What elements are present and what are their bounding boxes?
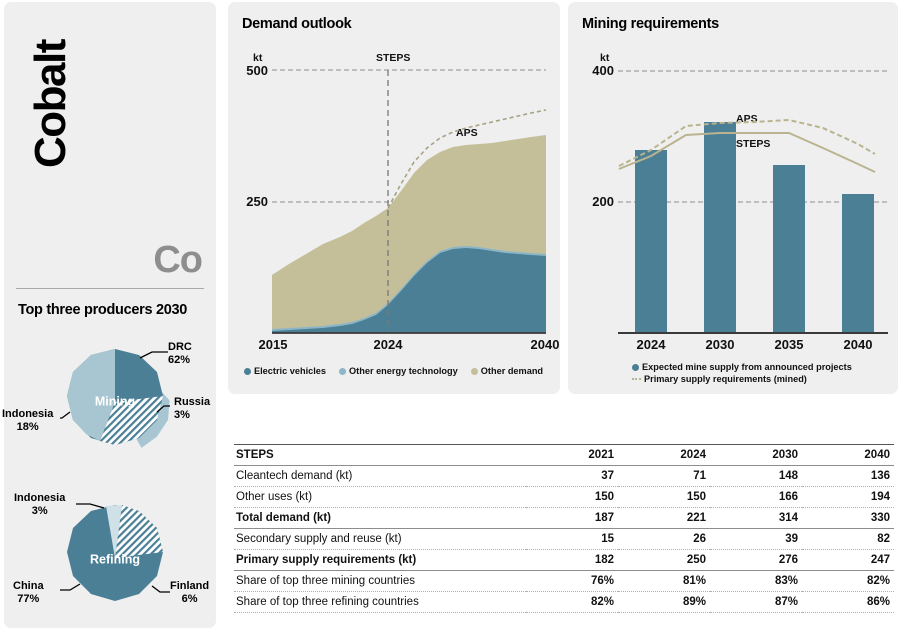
- legend-item-primary-supply-requirements: Primary supply requirements (mined): [632, 374, 852, 384]
- row-value-2024: 26: [618, 529, 710, 550]
- page-title: Cobalt: [26, 0, 76, 168]
- legend-item-other-demand: Other demand: [471, 366, 543, 376]
- table-row: Total demand (kt) 187 221 314 330: [234, 508, 894, 529]
- table-row: Primary supply requirements (kt) 182 250…: [234, 550, 894, 571]
- legend-label-other-energy-technology: Other energy technology: [349, 366, 458, 376]
- pie-label-russia-value: 3%: [174, 409, 190, 421]
- row-value-2021: 187: [526, 508, 618, 529]
- mining-xtick-2024: 2024: [628, 337, 674, 352]
- row-value-2030: 83%: [710, 571, 802, 592]
- table-header-row: STEPS 2021 2024 2030 2040: [234, 445, 894, 466]
- table-row: Share of top three refining countries 82…: [234, 592, 894, 613]
- mining-pie-svg: Mining: [60, 346, 170, 458]
- row-value-2024: 250: [618, 550, 710, 571]
- row-label: Primary supply requirements (kt): [234, 550, 526, 571]
- pie-label-drc-value: 62%: [168, 354, 190, 366]
- legend-label-electric-vehicles: Electric vehicles: [254, 366, 326, 376]
- pie-label-drc: DRC 62%: [168, 341, 192, 366]
- row-value-2030: 314: [710, 508, 802, 529]
- pie-label-china-value: 77%: [17, 593, 39, 605]
- row-value-2021: 76%: [526, 571, 618, 592]
- top-producers-title: Top three producers 2030: [18, 302, 187, 318]
- table-header-2040: 2040: [802, 445, 894, 466]
- mining-xtick-2035: 2035: [766, 337, 812, 352]
- legend-dot-other-energy-technology: [339, 368, 346, 375]
- legend-dot-other-demand: [471, 368, 478, 375]
- demand-outlook-panel: Demand outlook kt 500 250 STEPS APS 2015…: [228, 2, 560, 394]
- row-value-2040: 136: [802, 466, 894, 487]
- row-label: Cleantech demand (kt): [234, 466, 526, 487]
- row-value-2024: 150: [618, 487, 710, 508]
- pie-label-china-name: China: [13, 580, 44, 592]
- pie-label-indonesia-refining: Indonesia 3%: [14, 492, 65, 517]
- pie-label-indonesia: Indonesia 18%: [2, 408, 53, 433]
- demand-area-chart-svg: [228, 2, 560, 394]
- refining-pie-svg: Refining: [60, 502, 170, 614]
- mining-requirements-panel: Mining requirements kt 400 200 APS STEPS…: [568, 2, 898, 394]
- bar-2035: [773, 165, 805, 333]
- leader-line-indonesia-refining: [76, 504, 104, 508]
- demand-legend: Electric vehicles Other energy technolog…: [244, 366, 552, 376]
- row-value-2024: 221: [618, 508, 710, 529]
- leader-line-indonesia: [60, 412, 70, 418]
- element-symbol: Co: [153, 239, 202, 282]
- mining-legend: Expected mine supply from announced proj…: [632, 362, 861, 384]
- refining-pie-chart: Refining Indonesia 3% China 77% Finland …: [60, 502, 170, 614]
- legend-dash-primary-supply-requirements: [632, 378, 641, 380]
- mining-pie-chart: Mining DRC 62% Russia 3% Indonesia 18%: [60, 346, 170, 458]
- leader-line-china: [60, 584, 80, 590]
- row-value-2024: 89%: [618, 592, 710, 613]
- legend-label-other-demand: Other demand: [481, 366, 543, 376]
- row-value-2040: 330: [802, 508, 894, 529]
- table-body: Cleantech demand (kt) 37 71 148 136 Othe…: [234, 466, 894, 613]
- pie-label-finland-value: 6%: [182, 593, 198, 605]
- row-label: Share of top three mining countries: [234, 571, 526, 592]
- row-value-2040: 247: [802, 550, 894, 571]
- legend-label-expected-mine-supply: Expected mine supply from announced proj…: [642, 362, 852, 372]
- mining-bar-chart-svg: [568, 2, 898, 394]
- table-header-2021: 2021: [526, 445, 618, 466]
- row-value-2040: 82%: [802, 571, 894, 592]
- row-value-2024: 81%: [618, 571, 710, 592]
- pie-wedge-finland: [115, 505, 163, 558]
- pie-label-drc-name: DRC: [168, 341, 192, 353]
- table-header-steps: STEPS: [234, 445, 526, 466]
- steps-data-table: STEPS 2021 2024 2030 2040 Cleantech dema…: [234, 444, 894, 613]
- leader-line-finland: [152, 586, 170, 592]
- row-value-2021: 37: [526, 466, 618, 487]
- table-row: Cleantech demand (kt) 37 71 148 136: [234, 466, 894, 487]
- row-value-2040: 86%: [802, 592, 894, 613]
- row-label: Secondary supply and reuse (kt): [234, 529, 526, 550]
- demand-xtick-2040: 2040: [522, 337, 568, 352]
- row-value-2030: 87%: [710, 592, 802, 613]
- row-value-2021: 182: [526, 550, 618, 571]
- legend-dot-expected-mine-supply: [632, 364, 639, 371]
- row-value-2030: 148: [710, 466, 802, 487]
- table-header-2030: 2030: [710, 445, 802, 466]
- pie-label-russia-name: Russia: [174, 396, 210, 408]
- pie-label-indonesia-refining-name: Indonesia: [14, 492, 65, 504]
- pie-label-finland: Finland 6%: [170, 580, 209, 605]
- row-value-2040: 194: [802, 487, 894, 508]
- refining-pie-center-label: Refining: [90, 552, 140, 566]
- row-value-2021: 82%: [526, 592, 618, 613]
- row-value-2030: 276: [710, 550, 802, 571]
- row-value-2040: 82: [802, 529, 894, 550]
- mining-xtick-2030: 2030: [697, 337, 743, 352]
- table-row: Secondary supply and reuse (kt) 15 26 39…: [234, 529, 894, 550]
- leader-line-drc: [140, 352, 168, 358]
- divider: [16, 288, 204, 289]
- demand-xtick-2024: 2024: [365, 337, 411, 352]
- table-header-2024: 2024: [618, 445, 710, 466]
- mining-pie-center-label: Mining: [95, 394, 135, 408]
- legend-item-other-energy-technology: Other energy technology: [339, 366, 458, 376]
- row-label: Other uses (kt): [234, 487, 526, 508]
- legend-item-electric-vehicles: Electric vehicles: [244, 366, 326, 376]
- pie-label-indonesia-value: 18%: [17, 421, 39, 433]
- pie-label-indonesia-refining-value: 3%: [32, 505, 48, 517]
- table-row: Share of top three mining countries 76% …: [234, 571, 894, 592]
- demand-xtick-2015: 2015: [250, 337, 296, 352]
- pie-label-russia: Russia 3%: [174, 396, 210, 421]
- legend-item-expected-mine-supply: Expected mine supply from announced proj…: [632, 362, 852, 372]
- bar-2024: [635, 150, 667, 333]
- bar-2040: [842, 194, 874, 333]
- mining-xtick-2040: 2040: [835, 337, 881, 352]
- row-value-2030: 39: [710, 529, 802, 550]
- row-value-2021: 150: [526, 487, 618, 508]
- pie-label-finland-name: Finland: [170, 580, 209, 592]
- row-value-2030: 166: [710, 487, 802, 508]
- pie-label-china: China 77%: [13, 580, 44, 605]
- bar-2030: [704, 122, 736, 333]
- pie-label-indonesia-name: Indonesia: [2, 408, 53, 420]
- element-overview-panel: Cobalt Co Top three producers 2030 Minin…: [4, 2, 216, 628]
- legend-label-primary-supply-requirements: Primary supply requirements (mined): [644, 374, 807, 384]
- row-value-2024: 71: [618, 466, 710, 487]
- row-label: Share of top three refining countries: [234, 592, 526, 613]
- legend-dot-electric-vehicles: [244, 368, 251, 375]
- row-value-2021: 15: [526, 529, 618, 550]
- row-label: Total demand (kt): [234, 508, 526, 529]
- data-table: STEPS 2021 2024 2030 2040 Cleantech dema…: [234, 444, 894, 613]
- table-row: Other uses (kt) 150 150 166 194: [234, 487, 894, 508]
- table-head: STEPS 2021 2024 2030 2040: [234, 445, 894, 466]
